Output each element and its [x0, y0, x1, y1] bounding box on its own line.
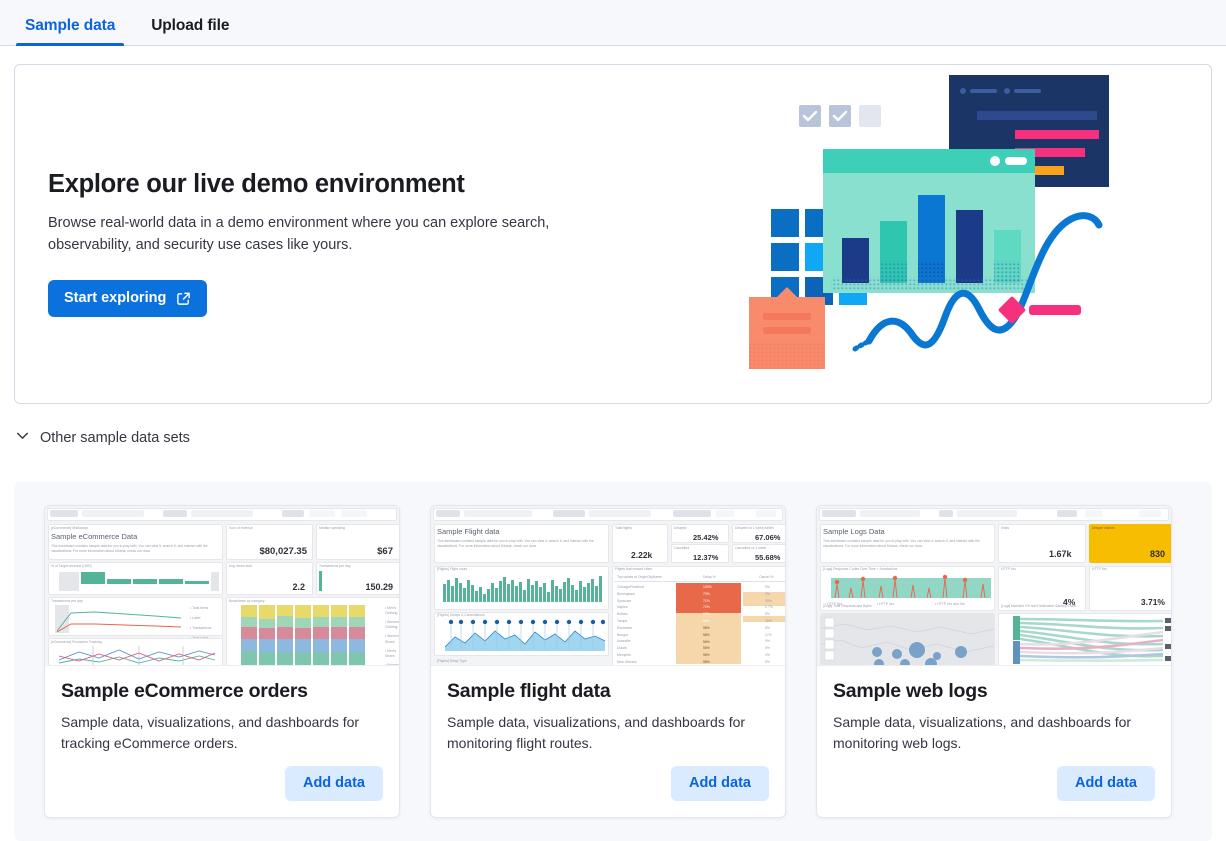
weblogs-dashboard-thumbnail: Sample Logs Data This dashboard contains… [817, 506, 1171, 666]
card-title: Sample web logs [833, 680, 1155, 703]
card-body: Sample eCommerce orders Sample data, vis… [45, 666, 399, 766]
card-footer: Add data [817, 766, 1171, 817]
start-exploring-button[interactable]: Start exploring [48, 280, 207, 317]
tab-upload-file[interactable]: Upload file [142, 18, 238, 46]
add-data-button-ecommerce[interactable]: Add data [285, 766, 383, 801]
card-title: Sample flight data [447, 680, 769, 703]
other-sample-data-sets-accordion[interactable]: Other sample data sets [14, 427, 190, 449]
add-data-button-flight[interactable]: Add data [671, 766, 769, 801]
card-footer: Add data [45, 766, 399, 817]
ecommerce-dashboard-thumbnail: [eCommerce] Markdown Sample eCommerce Da… [45, 506, 399, 666]
sample-data-card-weblogs[interactable]: Sample Logs Data This dashboard contains… [816, 505, 1172, 818]
sample-data-card-flight[interactable]: Sample Flight data This dashboard contai… [430, 505, 786, 818]
demo-environment-illustration [737, 71, 1117, 381]
sample-data-card-ecommerce[interactable]: [eCommerce] Markdown Sample eCommerce Da… [44, 505, 400, 818]
card-description: Sample data, visualizations, and dashboa… [61, 712, 383, 753]
hero-text-block: Explore our live demo environment Browse… [48, 169, 588, 317]
tab-sample-data[interactable]: Sample data [16, 18, 124, 46]
sample-data-cards-panel: [eCommerce] Markdown Sample eCommerce Da… [14, 482, 1212, 841]
card-title: Sample eCommerce orders [61, 680, 383, 703]
card-footer: Add data [431, 766, 785, 817]
external-link-icon [176, 291, 191, 306]
card-description: Sample data, visualizations, and dashboa… [833, 712, 1155, 753]
hero-subtitle: Browse real-world data in a demo environ… [48, 212, 573, 256]
card-body: Sample flight data Sample data, visualiz… [431, 666, 785, 766]
flight-dashboard-thumbnail: Sample Flight data This dashboard contai… [431, 506, 785, 666]
card-description: Sample data, visualizations, and dashboa… [447, 712, 769, 753]
accordion-label: Other sample data sets [40, 430, 190, 446]
card-body: Sample web logs Sample data, visualizati… [817, 666, 1171, 766]
start-exploring-label: Start exploring [64, 290, 166, 307]
chevron-down-icon [14, 427, 31, 449]
demo-environment-panel: Explore our live demo environment Browse… [14, 64, 1212, 404]
tab-bar: Sample data Upload file [0, 0, 1226, 46]
add-data-button-weblogs[interactable]: Add data [1057, 766, 1155, 801]
page-title: Explore our live demo environment [48, 169, 588, 200]
